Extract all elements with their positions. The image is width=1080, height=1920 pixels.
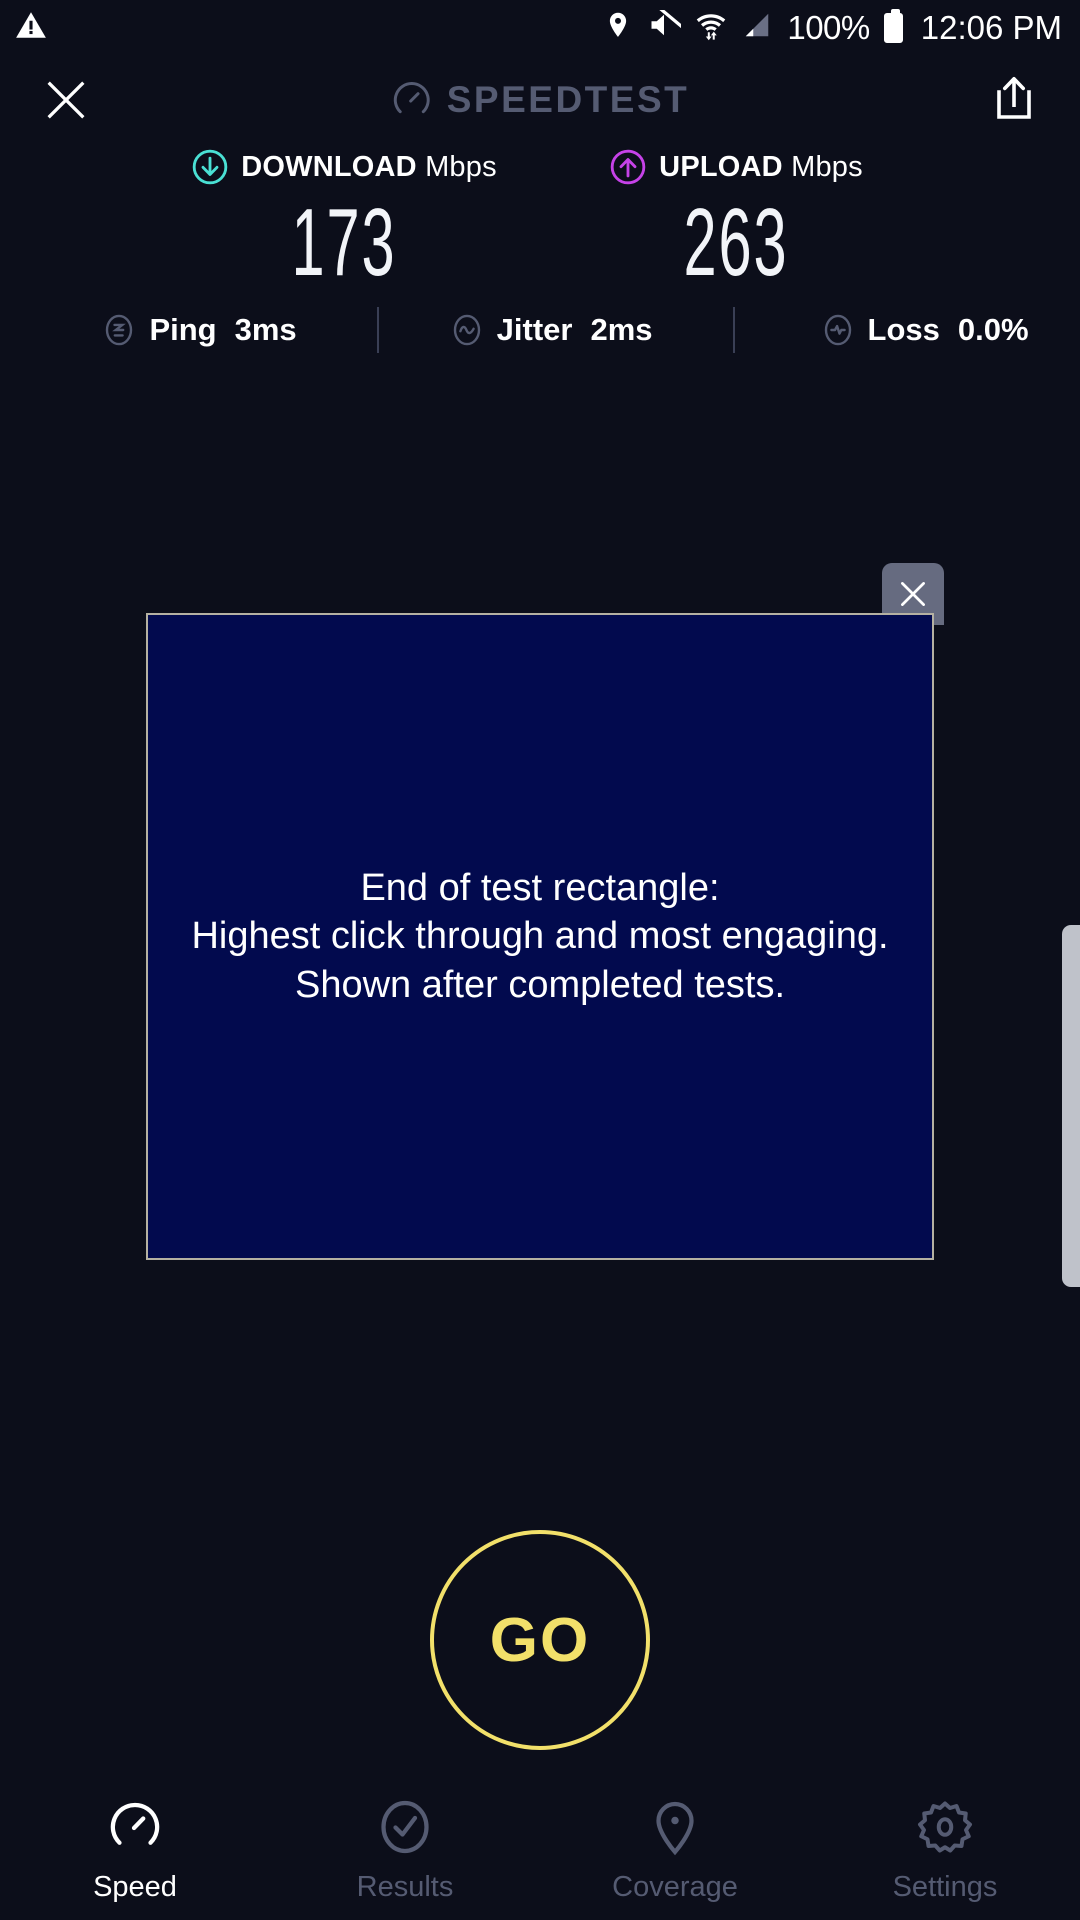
advertisement-banner[interactable]: End of test rectangle: Highest click thr… — [146, 613, 934, 1260]
scrollbar-thumb[interactable] — [1062, 925, 1080, 1287]
metric-divider — [377, 307, 379, 353]
close-button[interactable] — [38, 72, 94, 128]
go-button-label: GO — [490, 1605, 590, 1676]
upload-result: UPLOAD Mbps 263 — [546, 145, 926, 291]
ad-close-x-icon — [896, 577, 930, 611]
metric-divider — [733, 307, 735, 353]
metric-jitter-label: Jitter — [497, 312, 573, 348]
metric-ping-label: Ping — [149, 312, 216, 348]
close-x-icon — [40, 74, 92, 126]
cell-signal-icon — [741, 10, 773, 45]
metric-ping: Ping 3ms — [101, 312, 296, 348]
status-bar: 100% 12:06 PM — [0, 0, 1080, 55]
download-label: DOWNLOAD Mbps — [241, 151, 497, 184]
metric-jitter: Jitter 2ms — [449, 312, 653, 348]
nav-item-settings[interactable]: Settings — [810, 1797, 1080, 1904]
clock-label: 12:06 PM — [921, 9, 1062, 47]
results-summary: DOWNLOAD Mbps 173 UPLOAD Mbps 263 — [0, 145, 1080, 291]
speedometer-icon — [391, 79, 433, 121]
check-circle-icon — [375, 1797, 435, 1857]
metric-jitter-value: 2ms — [590, 312, 652, 348]
nav-label-speed: Speed — [93, 1871, 177, 1904]
wifi-transfer-icon — [695, 9, 727, 46]
speedtest-app-screen: 100% 12:06 PM SPEEDTEST — [0, 0, 1080, 1920]
brand-logo: SPEEDTEST — [391, 79, 690, 121]
upload-label: UPLOAD Mbps — [659, 151, 863, 184]
download-result: DOWNLOAD Mbps 173 — [154, 145, 534, 291]
download-value: 173 — [226, 195, 462, 291]
nav-item-results[interactable]: Results — [270, 1797, 540, 1904]
battery-full-icon — [884, 13, 903, 43]
app-header: SPEEDTEST — [0, 55, 1080, 145]
jitter-icon — [449, 312, 485, 348]
nav-item-speed[interactable]: Speed — [0, 1797, 270, 1904]
ad-text: End of test rectangle: Highest click thr… — [191, 864, 888, 1010]
upload-value: 263 — [618, 195, 854, 291]
nav-label-results: Results — [357, 1871, 454, 1904]
volume-muted-icon — [647, 10, 681, 45]
metrics-row: Ping 3ms Jitter 2ms Loss 0.0% — [0, 300, 1080, 360]
nav-label-settings: Settings — [893, 1871, 998, 1904]
download-header: DOWNLOAD Mbps — [154, 145, 534, 189]
upload-header: UPLOAD Mbps — [546, 145, 926, 189]
status-bar-left — [14, 8, 48, 47]
share-upload-icon — [990, 74, 1038, 126]
upload-arrow-circle-icon — [609, 148, 647, 186]
results-row: DOWNLOAD Mbps 173 UPLOAD Mbps 263 — [0, 145, 1080, 291]
battery-percent-label: 100% — [787, 9, 869, 47]
speedometer-icon — [105, 1797, 165, 1857]
loss-icon — [820, 312, 856, 348]
warning-triangle-icon — [14, 8, 48, 47]
share-button[interactable] — [986, 72, 1042, 128]
location-pin-icon — [645, 1797, 705, 1857]
location-pin-icon — [603, 10, 633, 45]
download-arrow-circle-icon — [191, 148, 229, 186]
ping-icon — [101, 312, 137, 348]
brand-title: SPEEDTEST — [447, 79, 690, 121]
metric-loss-value: 0.0% — [958, 312, 1029, 348]
metric-ping-value: 3ms — [235, 312, 297, 348]
nav-item-coverage[interactable]: Coverage — [540, 1797, 810, 1904]
status-bar-right: 100% 12:06 PM — [603, 9, 1062, 47]
bottom-navigation: Speed Results Coverage Settings — [0, 1780, 1080, 1920]
metric-loss: Loss 0.0% — [820, 312, 1029, 348]
nav-label-coverage: Coverage — [612, 1871, 738, 1904]
metric-loss-label: Loss — [868, 312, 940, 348]
go-button[interactable]: GO — [430, 1530, 650, 1750]
gear-icon — [915, 1797, 975, 1857]
